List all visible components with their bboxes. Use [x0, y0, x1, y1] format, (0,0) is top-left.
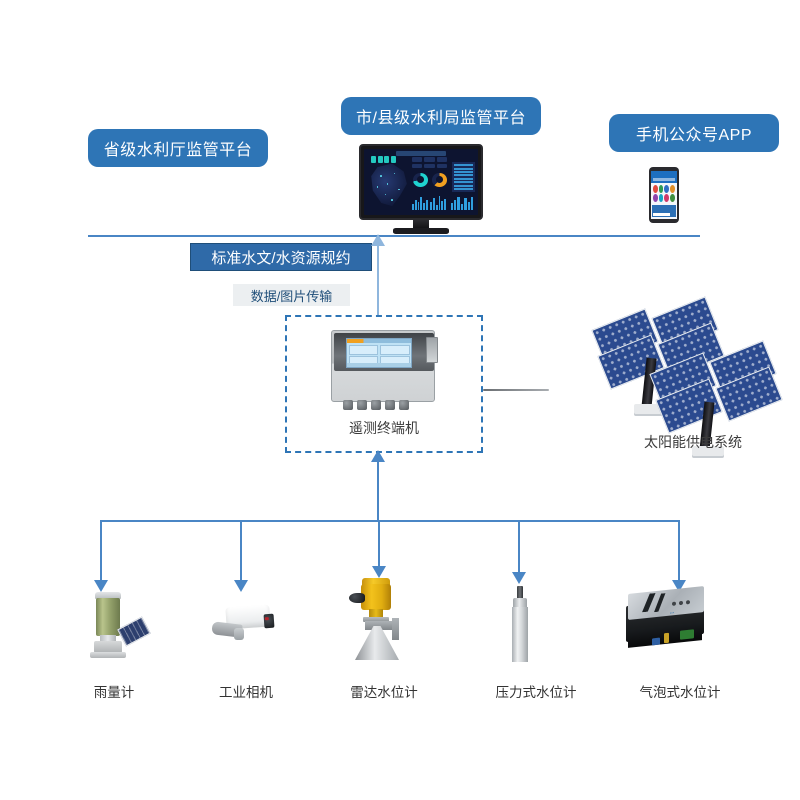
system-architecture-diagram: 省级水利厅监管平台 市/县级水利局监管平台 手机公众号APP	[0, 0, 800, 800]
sensor-drop-1	[100, 520, 102, 582]
camera-mount	[234, 628, 244, 640]
rain-gauge-cylinder	[96, 598, 120, 636]
arrow-down-icon-4	[512, 572, 526, 584]
solar-power-caption: 太阳能供电系统	[588, 432, 798, 452]
phone-app-header	[651, 171, 677, 183]
dashboard-bar-chart-2	[451, 195, 474, 210]
bubbler-connector	[652, 638, 660, 646]
sensor-label-pressure-level: 压力式水位计	[466, 681, 606, 701]
dashboard-title-bar	[396, 151, 446, 156]
arrow-down-icon-1	[94, 580, 108, 592]
phone-app-banner	[652, 205, 676, 217]
dashboard-donut-chart-1	[413, 173, 428, 187]
platform-label-province: 省级水利厅监管平台	[104, 136, 253, 160]
platform-card-province[interactable]: 省级水利厅监管平台	[88, 129, 268, 167]
sensor-bus-riser	[377, 462, 379, 520]
industrial-camera-icon	[208, 600, 284, 652]
rain-gauge-solar-panel	[117, 617, 151, 647]
payload-label-text: 数据/图片传输	[251, 286, 333, 305]
platform-label-city-county: 市/县级水利局监管平台	[356, 104, 526, 128]
radar-housing	[361, 584, 391, 610]
protocol-label-text: 标准水文/水资源规约	[211, 247, 350, 268]
sensor-distribution-bus	[100, 520, 680, 522]
bubbler-level-gauge-icon: •••	[622, 586, 718, 656]
sensor-drop-2	[240, 520, 242, 582]
arrow-down-icon-3	[372, 566, 386, 578]
phone-app-icon-grid	[653, 185, 676, 201]
bubbler-antenna-port	[664, 633, 669, 644]
dashboard-kpi-tiles	[371, 156, 396, 163]
payload-label-box: 数据/图片传输	[233, 284, 350, 306]
dashboard-china-map	[370, 164, 409, 209]
rtu-side-connector	[426, 337, 438, 363]
platform-label-mobile-app: 手机公众号APP	[636, 121, 752, 145]
smartphone-icon	[649, 167, 679, 223]
phone-screen	[651, 171, 677, 219]
desktop-monitor-icon	[359, 144, 483, 236]
solar-panel-icon	[588, 300, 798, 450]
dashboard-line-chart	[412, 195, 428, 210]
uplink-line	[377, 243, 379, 315]
rtu-cable-glands	[343, 400, 409, 410]
platform-card-city-county[interactable]: 市/县级水利局监管平台	[341, 97, 541, 135]
rtu-enclosure	[331, 330, 435, 402]
protocol-label-box: 标准水文/水资源规约	[190, 243, 372, 271]
sensor-drop-4	[518, 520, 520, 574]
dashboard-bar-chart-1	[430, 195, 446, 210]
arrow-up-icon-sensor-bus	[371, 450, 385, 462]
camera-lens	[264, 614, 275, 629]
platform-card-mobile-app[interactable]: 手机公众号APP	[609, 114, 779, 152]
sensor-label-industrial-camera: 工业相机	[182, 681, 310, 701]
platform-backbone-line	[88, 235, 700, 237]
pressure-level-gauge-icon	[504, 586, 538, 662]
monitor-screen	[364, 149, 478, 215]
monitor-bezel	[359, 144, 483, 220]
radar-bracket-wall	[392, 618, 399, 640]
monitor-base	[393, 228, 449, 234]
radar-connector	[349, 593, 365, 603]
sensor-drop-3	[378, 520, 380, 568]
sensor-label-rain-gauge: 雨量计	[50, 681, 178, 701]
sensor-label-radar-level: 雷达水位计	[320, 681, 448, 701]
dashboard-rank-chart	[452, 162, 475, 192]
phone-body	[649, 167, 679, 223]
radar-level-gauge-icon	[345, 578, 425, 660]
telemetry-terminal-caption: 遥测终端机	[285, 418, 483, 438]
dashboard-donut-chart-2	[432, 173, 447, 187]
rtu-display	[346, 338, 412, 368]
arrow-up-icon-uplink	[371, 234, 385, 246]
sensor-label-bubbler-level: 气泡式水位计	[616, 681, 744, 701]
rtu-antenna-icon	[483, 389, 549, 391]
rain-gauge-foot	[90, 652, 126, 658]
sensor-drop-5	[678, 520, 680, 582]
pressure-probe-body	[512, 607, 528, 662]
rain-gauge-icon	[76, 592, 152, 660]
arrow-down-icon-2	[234, 580, 248, 592]
bubbler-brand-mark: •••	[670, 611, 674, 615]
telemetry-terminal-icon	[331, 330, 435, 412]
bubbler-terminal-block	[680, 629, 694, 639]
